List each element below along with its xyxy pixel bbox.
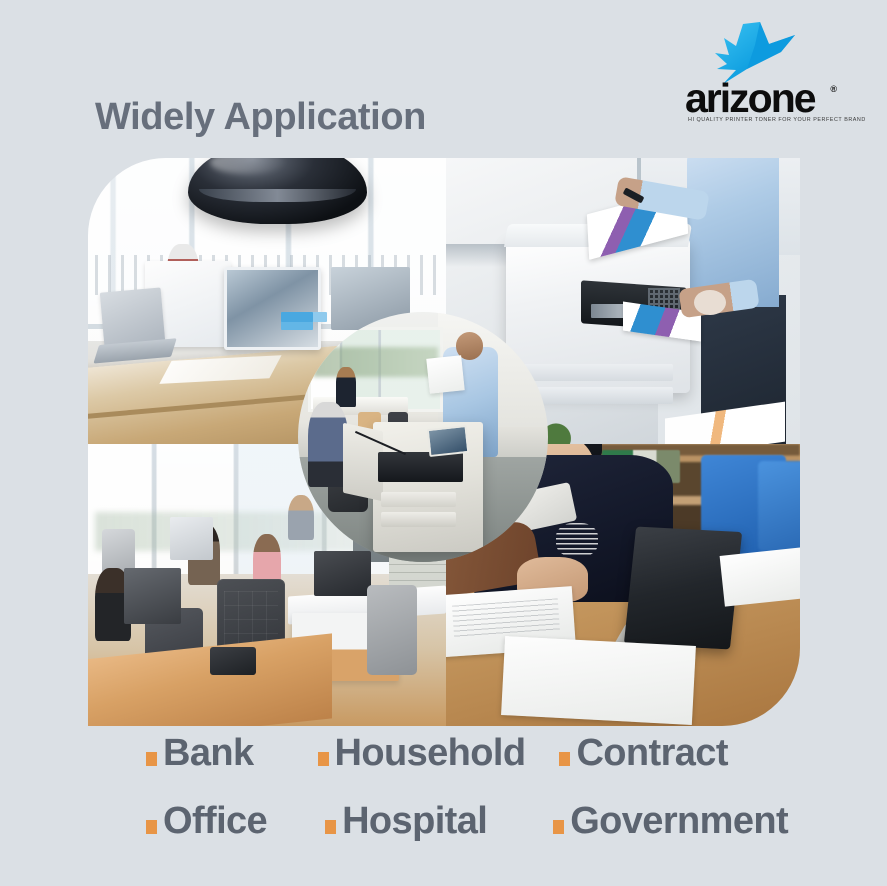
page-header: Widely Application arizone ® HI QUALITY … [0,0,887,160]
pendant-lamp [188,158,367,224]
registered-mark-icon: ® [830,84,837,94]
tag-label: Hospital [342,802,487,840]
tag-row-2: Office Hospital Government [146,802,788,840]
brand-wordmark: arizone [685,78,815,119]
chair-far [102,529,134,574]
person-hand [694,290,726,316]
monitor-foreground [124,568,181,624]
application-tags: Bank Household Contract Office Hospital … [0,726,887,886]
school-crest [556,523,598,557]
person-at-counter [336,367,356,407]
bullet-square-icon [325,820,336,834]
tag-bank: Bank [146,734,254,772]
bullet-square-icon [146,752,157,766]
person-seated [308,402,348,487]
tag-label: Office [163,802,267,840]
tag-contract: Contract [559,734,727,772]
blue-chair-2 [758,461,800,551]
bullet-square-icon [318,752,329,766]
copier-touchscreen [427,425,470,457]
tag-government: Government [553,802,788,840]
page-title: Widely Application [95,96,426,139]
window-greenery [313,347,438,377]
copier-tray-1 [381,492,456,507]
monitor-screen-ui [281,312,299,322]
monitor-background [170,517,213,559]
desk-phone [210,647,257,675]
brand-logo: arizone ® HI QUALITY PRINTER TONER FOR Y… [685,22,835,132]
paper-foreground [501,636,696,725]
bullet-square-icon [559,752,570,766]
tag-label: Bank [163,734,254,772]
chair-light [367,585,417,675]
bullet-square-icon [146,820,157,834]
tag-label: Government [570,802,788,840]
copier-tray-2 [381,512,456,527]
tag-household: Household [318,734,526,772]
laptop [100,287,165,346]
application-image-collage [88,158,800,726]
lamp-highlight [210,158,285,174]
tag-hospital: Hospital [325,802,487,840]
paper-right [720,546,800,606]
held-document [426,355,464,393]
collage-panel-center-circle [298,312,548,562]
copier-output-bin [378,452,463,482]
bullet-square-icon [553,820,564,834]
brand-tagline: HI QUALITY PRINTER TONER FOR YOUR PERFEC… [688,117,866,123]
tag-office: Office [146,802,267,840]
tag-label: Contract [576,734,727,772]
tag-row-1: Bank Household Contract [146,734,728,772]
tag-label: Household [335,734,526,772]
